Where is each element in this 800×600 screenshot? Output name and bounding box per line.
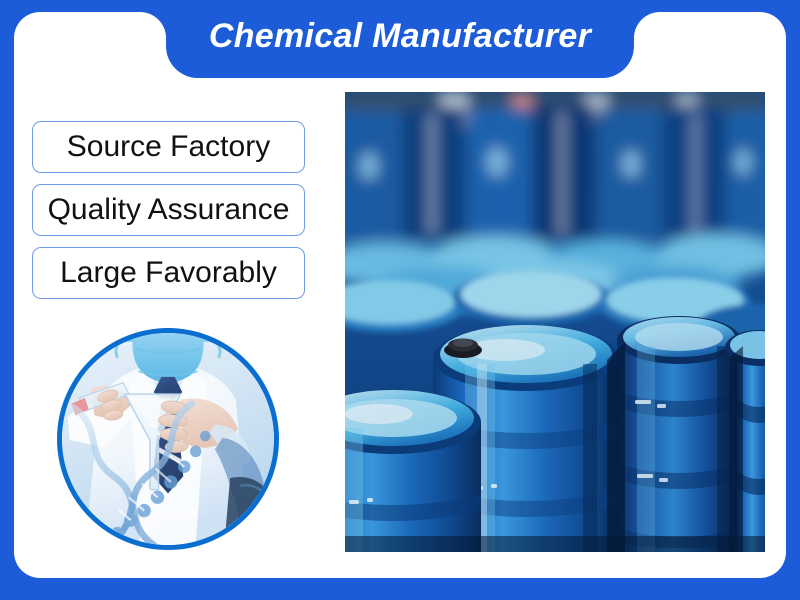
feature-label: Large Favorably	[60, 258, 277, 288]
blue-chemical-drums-photo	[345, 92, 765, 552]
laboratory-scientist-photo	[57, 328, 279, 550]
feature-item-large-favorably[interactable]: Large Favorably	[32, 247, 305, 299]
feature-item-quality-assurance[interactable]: Quality Assurance	[32, 184, 305, 236]
feature-item-source-factory[interactable]: Source Factory	[32, 121, 305, 173]
product-poster: Chemical Manufacturer Source Factory Qua…	[0, 0, 800, 600]
laboratory-scientist-illustration	[62, 333, 274, 545]
blue-chemical-drums-illustration	[345, 92, 765, 552]
feature-label: Quality Assurance	[48, 195, 290, 225]
feature-list: Source Factory Quality Assurance Large F…	[32, 121, 305, 299]
feature-label: Source Factory	[67, 132, 270, 162]
